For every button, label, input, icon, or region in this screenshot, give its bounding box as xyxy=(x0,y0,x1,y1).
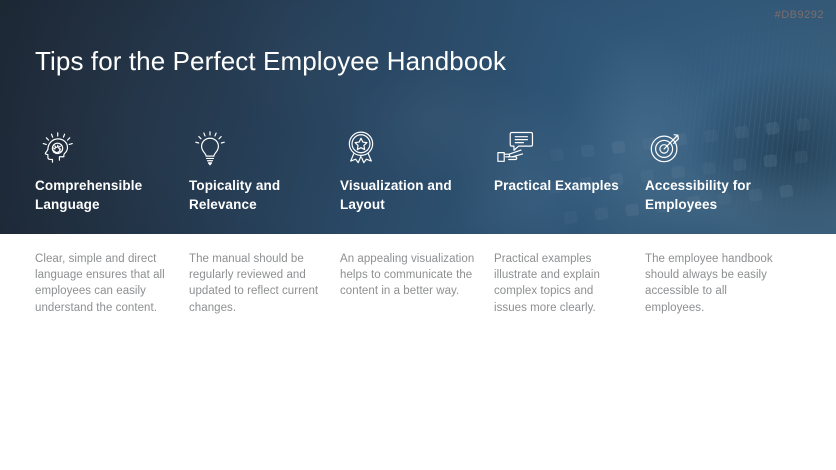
speech-bubble-hand-icon xyxy=(494,126,538,168)
tip-body-1: Clear, simple and direct language ensure… xyxy=(35,251,170,316)
tip-body-4: Practical examples illustrate and explai… xyxy=(494,251,629,316)
slide-root: #DB9292 Tips for the Perfect Employee Ha… xyxy=(0,0,836,470)
target-arrow-icon xyxy=(645,126,689,168)
tip-heading-2: Topicality and Relevance xyxy=(189,177,329,214)
tips-columns: Comprehensible Language Clear, simple an… xyxy=(0,0,836,470)
tip-heading-4: Practical Examples xyxy=(494,177,634,196)
tip-body-2: The manual should be regularly reviewed … xyxy=(189,251,324,316)
award-badge-star-icon xyxy=(340,126,384,168)
lightbulb-icon xyxy=(189,126,233,168)
tip-heading-1: Comprehensible Language xyxy=(35,177,175,214)
tip-body-5: The employee handbook should always be e… xyxy=(645,251,780,316)
tip-body-3: An appealing visualization helps to comm… xyxy=(340,251,475,300)
tip-heading-5: Accessibility for Employees xyxy=(645,177,785,214)
head-brain-idea-icon xyxy=(35,126,79,168)
tip-heading-3: Visualization and Layout xyxy=(340,177,480,214)
